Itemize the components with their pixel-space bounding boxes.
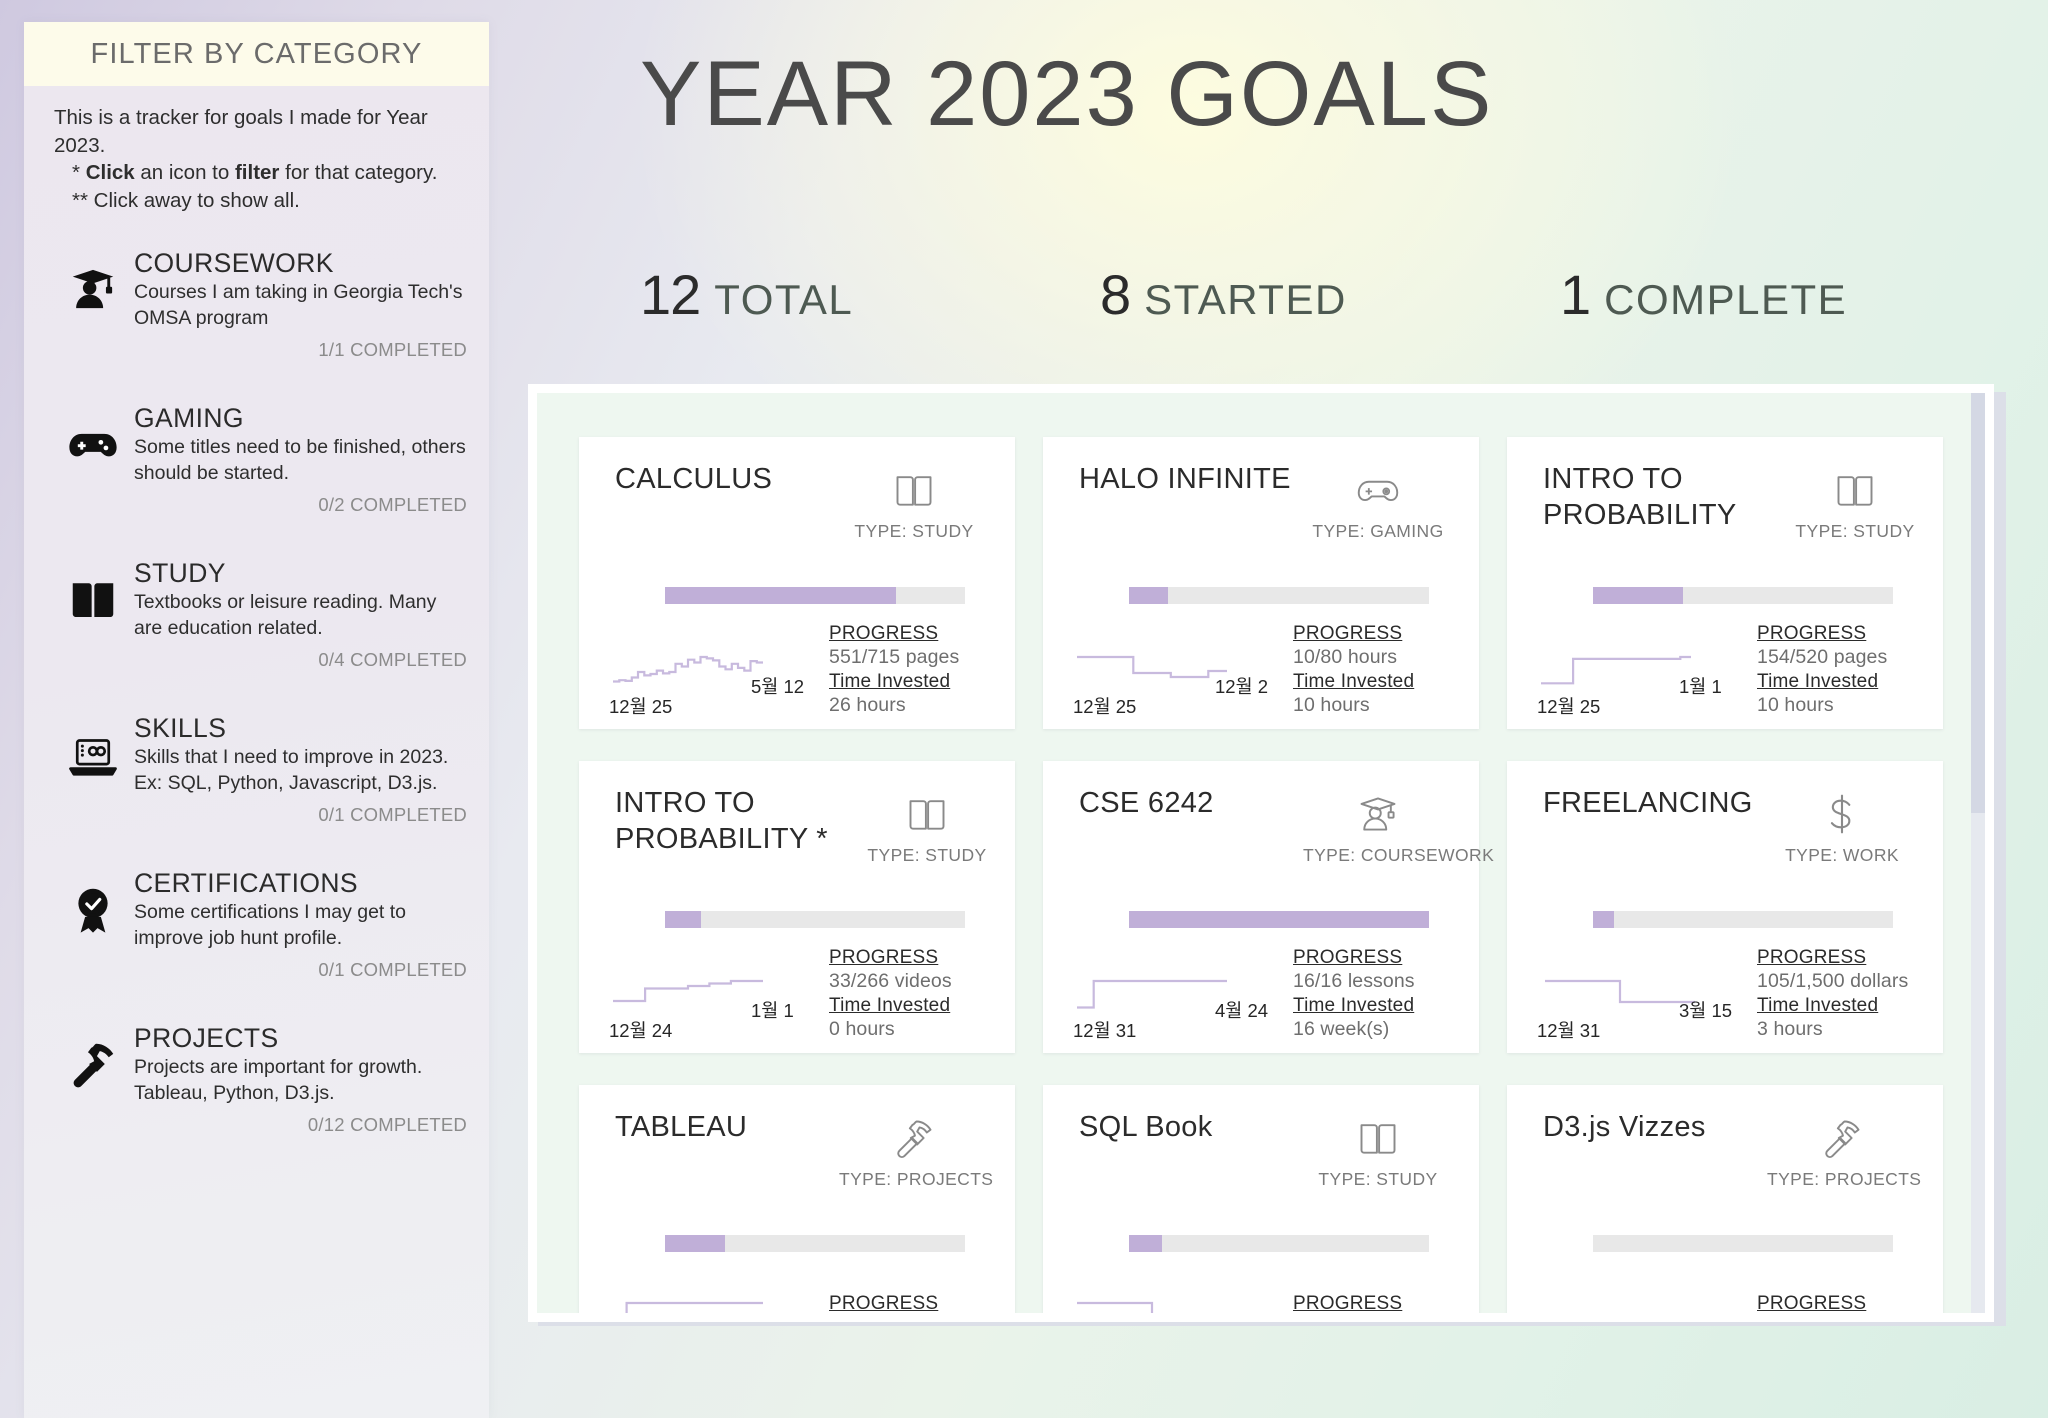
hammer-icon [1767, 1111, 1917, 1165]
open-book-icon [839, 463, 989, 517]
goal-progress-bar-track [665, 911, 965, 928]
progress-header: PROGRESS [1293, 947, 1453, 969]
time-invested-header: Time Invested [829, 995, 989, 1017]
goal-date-start: 12월 25 [1537, 693, 1600, 719]
goal-sparkline [1531, 1271, 1751, 1322]
goal-date-start: 12월 31 [1073, 1017, 1136, 1043]
progress-header: PROGRESS [829, 947, 989, 969]
progress-value: 105/1,500 dollars [1757, 970, 1917, 993]
hammer-icon[interactable] [62, 1033, 124, 1095]
goal-progress-details: PROGRESS 2/10 item Time Invested [823, 1293, 989, 1322]
goal-date-start: 12월 25 [609, 693, 672, 719]
goal-title: INTRO TO PROBABILITY * [615, 785, 865, 857]
goal-card-footer: 12월 24 1월 1 PROGRESS 33/266 videos Time … [603, 947, 989, 1045]
goal-date-end: 3월 15 [1679, 997, 1732, 1023]
gamepad-icon [1303, 463, 1453, 517]
sidebar-item-completed-count: 0/2 COMPLETED [134, 494, 467, 516]
hammer-icon [839, 1111, 989, 1165]
progress-value: 0/5 item [1757, 1316, 1917, 1322]
progress-header: PROGRESS [1293, 623, 1453, 645]
goal-card[interactable]: HALO INFINITE TYPE: GAMING 12 [1043, 437, 1479, 729]
time-invested-value: 0 hours [829, 1018, 989, 1041]
sidebar-item-coursework[interactable]: COURSEWORK Courses I am taking in Georgi… [24, 244, 489, 361]
goal-progress-bar-fill [1593, 587, 1683, 604]
sidebar-item-body: CERTIFICATIONS Some certifications I may… [134, 864, 467, 981]
instruction-line-2: * Click an icon to filter for that categ… [54, 159, 467, 187]
instruction-bold-filter: filter [235, 161, 279, 184]
goal-date-start: 12월 25 [1073, 693, 1136, 719]
goal-card-footer: 1월 3 PROGRESS 15/134 pages Time Invested [1067, 1271, 1453, 1322]
goal-card-header: INTRO TO PROBABILITY TYPE: STUDY [1543, 461, 1917, 542]
dollar-icon [1767, 787, 1917, 841]
goal-card[interactable]: D3.js Vizzes TYPE: PROJECTS [1507, 1085, 1943, 1322]
goal-card[interactable]: TABLEAU TYPE: PROJECTS 5월 14 [579, 1085, 1015, 1322]
goal-date-end: 12월 2 [1215, 673, 1268, 699]
goal-card[interactable]: FREELANCING TYPE: WORK 12월 31 3월 15 [1507, 761, 1943, 1053]
goal-type-box: TYPE: STUDY [839, 461, 989, 542]
goal-card[interactable]: CALCULUS TYPE: STUDY 12월 25 5월 12 [579, 437, 1015, 729]
goal-progress-bar-fill [665, 1235, 725, 1252]
goal-card-footer: 12월 25 12월 2 PROGRESS 10/80 hours Time I… [1067, 623, 1453, 721]
time-invested-header: Time Invested [1757, 995, 1917, 1017]
stat-label: COMPLETE [1604, 276, 1847, 324]
goal-title: CALCULUS [615, 461, 772, 497]
sidebar-title: FILTER BY CATEGORY [91, 38, 423, 71]
goal-date-start: 12월 24 [609, 1017, 672, 1043]
goal-progress-bar-fill [1129, 1235, 1162, 1252]
sidebar-item-description: Textbooks or leisure reading. Many are e… [134, 590, 467, 641]
sidebar-header: FILTER BY CATEGORY [24, 22, 489, 86]
sidebar-item-study[interactable]: STUDY Textbooks or leisure reading. Many… [24, 554, 489, 671]
progress-header: PROGRESS [1293, 1293, 1453, 1315]
stat-total: 12 TOTAL [640, 262, 1100, 327]
goal-card-header: CSE 6242 TYPE: COURSEWORK [1079, 785, 1453, 866]
sidebar-item-body: STUDY Textbooks or leisure reading. Many… [134, 554, 467, 671]
goal-progress-bar-track [665, 587, 965, 604]
goal-progress-bar-fill [1129, 911, 1429, 928]
goals-grid: CALCULUS TYPE: STUDY 12월 25 5월 12 [537, 393, 1985, 1313]
progress-header: PROGRESS [1757, 623, 1917, 645]
goal-progress-details: PROGRESS 16/16 lessons Time Invested 16 … [1287, 947, 1453, 1045]
goal-type-label: TYPE: GAMING [1303, 521, 1453, 542]
goals-panel: CALCULUS TYPE: STUDY 12월 25 5월 12 [528, 384, 1994, 1322]
sidebar-item-completed-count: 0/12 COMPLETED [134, 1114, 467, 1136]
goal-type-label: TYPE: STUDY [839, 521, 989, 542]
goal-title: CSE 6242 [1079, 785, 1214, 821]
goal-card-footer: PROGRESS 0/5 item Time Invested [1531, 1271, 1917, 1322]
sidebar-item-label: STUDY [134, 558, 467, 588]
goal-type-box: TYPE: PROJECTS [1767, 1109, 1917, 1190]
goal-type-box: TYPE: PROJECTS [839, 1109, 989, 1190]
progress-value: 16/16 lessons [1293, 970, 1453, 993]
goal-sparkline: 12월 25 1월 1 [1531, 625, 1751, 721]
sidebar-item-completed-count: 1/1 COMPLETED [134, 339, 467, 361]
stat-label: TOTAL [714, 276, 853, 324]
sidebar-item-description: Some titles need to be finished, others … [134, 435, 467, 486]
panel-scrollbar[interactable] [1971, 393, 1985, 1313]
goal-sparkline: 12월 25 12월 2 [1067, 625, 1287, 721]
progress-header: PROGRESS [1757, 1293, 1917, 1315]
goal-progress-bar-track [1129, 587, 1429, 604]
sidebar-item-gaming[interactable]: GAMING Some titles need to be finished, … [24, 399, 489, 516]
goal-title: INTRO TO PROBABILITY [1543, 461, 1793, 533]
progress-value: 15/134 pages [1293, 1316, 1453, 1322]
goal-progress-bar-track [665, 1235, 965, 1252]
goal-sparkline: 12월 31 3월 15 [1531, 949, 1751, 1045]
goal-card-header: HALO INFINITE TYPE: GAMING [1079, 461, 1453, 542]
sidebar-item-label: GAMING [134, 403, 467, 433]
goal-title: TABLEAU [615, 1109, 747, 1145]
award-check-icon[interactable] [62, 878, 124, 940]
sidebar-item-body: PROJECTS Projects are important for grow… [134, 1019, 467, 1136]
goal-progress-details: PROGRESS 33/266 videos Time Invested 0 h… [823, 947, 989, 1045]
sidebar-item-description: Skills that I need to improve in 2023. E… [134, 745, 467, 796]
goal-sparkline: 12월 24 1월 1 [603, 949, 823, 1045]
time-invested-header: Time Invested [1293, 671, 1453, 693]
goal-card-footer: 12월 25 1월 1 PROGRESS 154/520 pages Time … [1531, 623, 1917, 721]
sidebar-item-skills[interactable]: SKILLS Skills that I need to improve in … [24, 709, 489, 826]
open-book-icon [865, 787, 989, 841]
stat-started: 8 STARTED [1100, 262, 1560, 327]
progress-value: 33/266 videos [829, 970, 989, 993]
goal-type-box: TYPE: WORK [1767, 785, 1917, 866]
goals-row: INTRO TO PROBABILITY * TYPE: STUDY 12월 2… [579, 761, 1951, 1053]
sidebar-item-description: Some certifications I may get to improve… [134, 900, 467, 951]
progress-header: PROGRESS [829, 1293, 989, 1315]
goal-card[interactable]: INTRO TO PROBABILITY TYPE: STUDY 12월 25 … [1507, 437, 1943, 729]
progress-value: 154/520 pages [1757, 646, 1917, 669]
instruction-line-2-pre: * [72, 161, 86, 184]
stat-number: 8 [1100, 262, 1130, 327]
goal-title: SQL Book [1079, 1109, 1213, 1145]
stat-number: 12 [640, 262, 700, 327]
time-invested-value: 3 hours [1757, 1018, 1917, 1041]
instruction-line-2-mid: an icon to [135, 161, 235, 184]
goal-type-label: TYPE: WORK [1767, 845, 1917, 866]
sidebar-item-body: GAMING Some titles need to be finished, … [134, 399, 467, 516]
goal-type-label: TYPE: PROJECTS [839, 1169, 989, 1190]
goal-progress-details: PROGRESS 10/80 hours Time Invested 10 ho… [1287, 623, 1453, 721]
time-invested-value: 16 week(s) [1293, 1018, 1453, 1041]
page-title: YEAR 2023 GOALS [640, 42, 1493, 147]
time-invested-value: 26 hours [829, 694, 989, 717]
goal-card[interactable]: CSE 6242 TYPE: COURSEWORK 12월 [1043, 761, 1479, 1053]
goal-type-box: TYPE: COURSEWORK [1303, 785, 1453, 866]
goal-sparkline: 12월 31 4월 24 [1067, 949, 1287, 1045]
filter-sidebar: FILTER BY CATEGORY This is a tracker for… [24, 22, 489, 1418]
goals-row: CALCULUS TYPE: STUDY 12월 25 5월 12 [579, 437, 1951, 729]
time-invested-header: Time Invested [1757, 671, 1917, 693]
goal-progress-bar-track [1593, 1235, 1893, 1252]
sidebar-item-certifications[interactable]: CERTIFICATIONS Some certifications I may… [24, 864, 489, 981]
summary-stats: 12 TOTAL8 STARTED1 COMPLETE [640, 262, 1880, 327]
open-book-icon[interactable] [62, 568, 124, 630]
sidebar-item-completed-count: 0/4 COMPLETED [134, 649, 467, 671]
goal-type-label: TYPE: STUDY [1303, 1169, 1453, 1190]
stat-label: STARTED [1144, 276, 1347, 324]
goal-sparkline: 5월 14 [603, 1271, 823, 1322]
instruction-line-2-post: for that category. [279, 161, 437, 184]
goal-card-header: CALCULUS TYPE: STUDY [615, 461, 989, 542]
goal-progress-details: PROGRESS 551/715 pages Time Invested 26 … [823, 623, 989, 721]
goal-type-label: TYPE: COURSEWORK [1303, 845, 1453, 866]
goal-card[interactable]: SQL Book TYPE: STUDY 1월 3 [1043, 1085, 1479, 1322]
graduation-student-icon [1303, 787, 1453, 841]
goal-progress-bar-track [1129, 911, 1429, 928]
time-invested-header: Time Invested [1293, 995, 1453, 1017]
instruction-bold-click: Click [86, 161, 135, 184]
goal-title: FREELANCING [1543, 785, 1753, 821]
time-invested-value: 10 hours [1757, 694, 1917, 717]
progress-value: 551/715 pages [829, 646, 989, 669]
goal-date-end: 4월 24 [1215, 997, 1268, 1023]
goal-type-label: TYPE: STUDY [1793, 521, 1917, 542]
panel-scrollbar-thumb[interactable] [1971, 393, 1985, 813]
sidebar-item-label: SKILLS [134, 713, 467, 743]
goal-card-header: INTRO TO PROBABILITY * TYPE: STUDY [615, 785, 989, 866]
goal-progress-bar-fill [1593, 911, 1614, 928]
goal-progress-bar-track [1129, 1235, 1429, 1252]
goal-card-footer: 12월 31 3월 15 PROGRESS 105/1,500 dollars … [1531, 947, 1917, 1045]
stat-complete: 1 COMPLETE [1560, 262, 1847, 327]
sidebar-instructions: This is a tracker for goals I made for Y… [24, 86, 489, 214]
open-book-icon [1303, 1111, 1453, 1165]
goal-type-box: TYPE: STUDY [865, 785, 989, 866]
graduation-student-icon[interactable] [62, 258, 124, 320]
progress-value: 10/80 hours [1293, 646, 1453, 669]
goal-date-end: 5월 14 [751, 1319, 804, 1322]
goal-progress-bar-track [1593, 587, 1893, 604]
goal-card-footer: 12월 31 4월 24 PROGRESS 16/16 lessons Time… [1067, 947, 1453, 1045]
goal-progress-bar-fill [665, 587, 896, 604]
goal-card-header: FREELANCING TYPE: WORK [1543, 785, 1917, 866]
gamepad-icon[interactable] [62, 413, 124, 475]
goal-progress-bar-track [1593, 911, 1893, 928]
goals-row: TABLEAU TYPE: PROJECTS 5월 14 [579, 1085, 1951, 1322]
time-invested-header: Time Invested [829, 671, 989, 693]
goal-progress-details: PROGRESS 154/520 pages Time Invested 10 … [1751, 623, 1917, 721]
sidebar-item-body: SKILLS Skills that I need to improve in … [134, 709, 467, 826]
category-filter-list: COURSEWORK Courses I am taking in Georgi… [24, 244, 489, 1136]
sidebar-item-label: COURSEWORK [134, 248, 467, 278]
progress-value: 2/10 item [829, 1316, 989, 1322]
progress-header: PROGRESS [829, 623, 989, 645]
goal-type-box: TYPE: GAMING [1303, 461, 1453, 542]
goal-date-start: 12월 31 [1537, 1017, 1600, 1043]
goal-sparkline: 12월 25 5월 12 [603, 625, 823, 721]
sidebar-item-description: Projects are important for growth. Table… [134, 1055, 467, 1106]
laptop-code-icon[interactable] [62, 723, 124, 785]
goal-card-footer: 5월 14 PROGRESS 2/10 item Time Invested [603, 1271, 989, 1322]
goal-title: HALO INFINITE [1079, 461, 1291, 497]
goal-type-label: TYPE: STUDY [865, 845, 989, 866]
goal-title: D3.js Vizzes [1543, 1109, 1706, 1145]
goal-date-end: 1월 1 [751, 997, 794, 1023]
goal-card-footer: 12월 25 5월 12 PROGRESS 551/715 pages Time… [603, 623, 989, 721]
sidebar-item-completed-count: 0/1 COMPLETED [134, 804, 467, 826]
sidebar-item-projects[interactable]: PROJECTS Projects are important for grow… [24, 1019, 489, 1136]
stat-number: 1 [1560, 262, 1590, 327]
goal-card[interactable]: INTRO TO PROBABILITY * TYPE: STUDY 12월 2… [579, 761, 1015, 1053]
goal-date-end: 5월 12 [751, 673, 804, 699]
goal-card-header: TABLEAU TYPE: PROJECTS [615, 1109, 989, 1190]
instruction-line-3: ** Click away to show all. [54, 187, 467, 215]
goal-progress-bar-fill [1129, 587, 1168, 604]
instruction-line-1: This is a tracker for goals I made for Y… [54, 104, 467, 159]
open-book-icon [1793, 463, 1917, 517]
goal-type-label: TYPE: PROJECTS [1767, 1169, 1917, 1190]
sidebar-item-body: COURSEWORK Courses I am taking in Georgi… [134, 244, 467, 361]
goal-progress-details: PROGRESS 15/134 pages Time Invested [1287, 1293, 1453, 1322]
goal-progress-details: PROGRESS 105/1,500 dollars Time Invested… [1751, 947, 1917, 1045]
sidebar-item-completed-count: 0/1 COMPLETED [134, 959, 467, 981]
sidebar-item-label: CERTIFICATIONS [134, 868, 467, 898]
sidebar-item-description: Courses I am taking in Georgia Tech's OM… [134, 280, 467, 331]
goal-card-header: SQL Book TYPE: STUDY [1079, 1109, 1453, 1190]
goal-date-end: 1월 1 [1679, 673, 1722, 699]
progress-header: PROGRESS [1757, 947, 1917, 969]
goal-type-box: TYPE: STUDY [1303, 1109, 1453, 1190]
goal-card-header: D3.js Vizzes TYPE: PROJECTS [1543, 1109, 1917, 1190]
goal-progress-details: PROGRESS 0/5 item Time Invested [1751, 1293, 1917, 1322]
sidebar-item-label: PROJECTS [134, 1023, 467, 1053]
time-invested-value: 10 hours [1293, 694, 1453, 717]
goal-progress-bar-fill [665, 911, 701, 928]
goal-type-box: TYPE: STUDY [1793, 461, 1917, 542]
goal-sparkline: 1월 3 [1067, 1271, 1287, 1322]
